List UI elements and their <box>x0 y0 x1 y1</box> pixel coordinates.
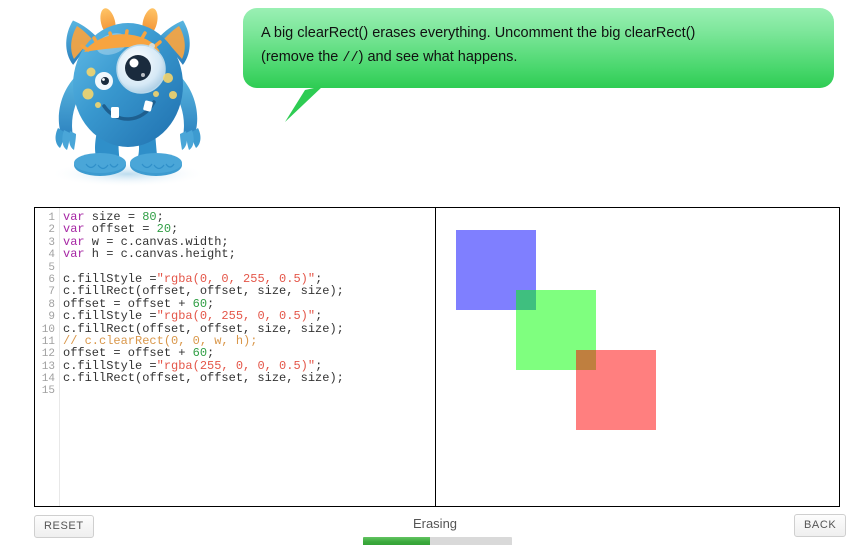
code-token: h = c.canvas.height; <box>85 247 236 261</box>
code-line: 4var h = c.canvas.height; <box>35 248 436 260</box>
line-number: 9 <box>35 311 59 323</box>
code-token: c.fillRect(offset, offset, size, size); <box>63 371 344 385</box>
code-line-text: var h = c.canvas.height; <box>59 248 236 260</box>
page-root: A big clearRect() erases everything. Unc… <box>0 0 846 545</box>
code-line: 14c.fillRect(offset, offset, size, size)… <box>35 372 436 384</box>
line-number: 15 <box>35 385 59 397</box>
progress-bar-track <box>363 537 512 545</box>
code-line: 15 <box>35 384 436 396</box>
code-editor[interactable]: 1var size = 80;2var offset = 20;3var w =… <box>35 208 436 506</box>
speech-bubble-tail-icon <box>283 86 325 122</box>
monster-mascot-icon <box>28 2 228 192</box>
reset-button[interactable]: RESET <box>34 515 94 538</box>
exercise-panel: 1var size = 80;2var offset = 20;3var w =… <box>34 207 840 507</box>
code-line-text: c.fillRect(offset, offset, size, size); <box>59 372 344 384</box>
drawing-canvas[interactable] <box>436 208 840 506</box>
line-number: 12 <box>35 348 59 360</box>
bubble-line-2-suffix: ) and see what happens. <box>359 49 518 65</box>
speech-bubble: A big clearRect() erases everything. Unc… <box>243 8 834 88</box>
bubble-line-2-code: // <box>342 51 358 66</box>
code-content[interactable]: 1var size = 80;2var offset = 20;3var w =… <box>35 211 436 397</box>
line-number: 2 <box>35 224 59 236</box>
code-token: var <box>63 247 85 261</box>
status-label: Erasing <box>300 516 570 531</box>
line-number: 7 <box>35 286 59 298</box>
back-button[interactable]: BACK <box>794 514 846 537</box>
progress-bar-fill <box>363 537 430 545</box>
line-number: 4 <box>35 249 59 261</box>
bubble-line-1: A big clearRect() erases everything. Unc… <box>261 25 695 41</box>
bubble-line-2-prefix: (remove the <box>261 49 342 65</box>
speech-bubble-text: A big clearRect() erases everything. Unc… <box>261 21 818 71</box>
red-square <box>576 350 656 430</box>
